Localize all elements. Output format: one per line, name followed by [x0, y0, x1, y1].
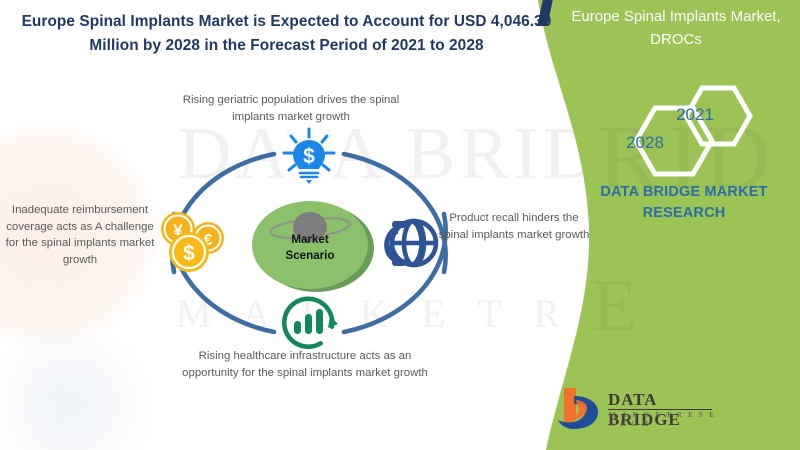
currency-coins-icon: ¥ € $ [152, 206, 230, 276]
market-scenario-line1: Market [248, 232, 372, 248]
decorative-blush-bottom-left [0, 330, 170, 450]
panel-title: Europe Spinal Implants Market, DROCs [560, 6, 792, 51]
svg-text:$: $ [183, 242, 195, 265]
hex-2028-label: 2028 [615, 133, 675, 153]
market-scenario-diagram: Market Scenario $ [148, 128, 468, 358]
market-scenario-label: Market Scenario [248, 232, 372, 265]
dbmr-logo: DATA BRIDGE M A R K E T R E S E A R C H [556, 386, 716, 436]
infographic-canvas: DATA BRIDGE M A R K E T R E S E A R C H … [0, 0, 800, 450]
lightbulb-dollar-icon: $ [276, 124, 342, 190]
page-title: Europe Spinal Implants Market is Expecte… [14, 10, 559, 58]
dbmr-logo-subtitle: M A R K E T R E S E A R C H [609, 410, 716, 428]
callout-left-text: Inadequate reimbursement coverage acts a… [2, 202, 158, 268]
growth-refresh-icon [274, 288, 346, 354]
callout-top-text: Rising geriatric population drives the s… [178, 92, 404, 125]
callout-bottom-text: Rising healthcare infrastructure acts as… [176, 348, 434, 381]
market-scenario-line2: Scenario [248, 248, 372, 264]
panel-brand-text: DATA BRIDGE MARKET RESEARCH [576, 182, 792, 223]
hex-2021-label: 2021 [665, 105, 725, 125]
callout-right-text: Product recall hinders the spinal implan… [438, 210, 590, 243]
svg-text:E: E [592, 265, 637, 347]
dbmr-logo-mark [556, 386, 604, 432]
globe-phone-icon [372, 208, 442, 278]
svg-text:$: $ [303, 145, 315, 168]
